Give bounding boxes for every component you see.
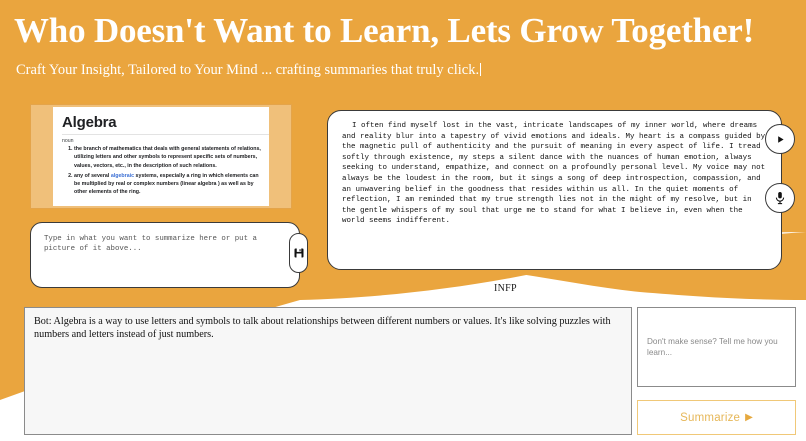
summarize-input-panel[interactable]: Type in what you want to summarize here … [30, 222, 300, 288]
bot-output-box[interactable]: Bot: Algebra is a way to use letters and… [24, 307, 632, 435]
dictionary-screenshot: Algebra noun the branch of mathematics t… [53, 107, 269, 206]
uploaded-image-card[interactable]: Algebra noun the branch of mathematics t… [30, 104, 292, 209]
microphone-icon [774, 191, 786, 205]
dictionary-definition-list: the branch of mathematics that deals wit… [53, 145, 269, 197]
bot-output-text: Bot: Algebra is a way to use letters and… [34, 315, 622, 341]
microphone-button[interactable] [765, 183, 795, 213]
persona-text-panel[interactable]: I often find myself lost in the vast, in… [327, 110, 782, 270]
persona-text: I often find myself lost in the vast, in… [342, 121, 767, 227]
dictionary-definition-2: any of several algebraic systems, especi… [74, 172, 263, 197]
feedback-input[interactable]: Don't make sense? Tell me how you learn.… [637, 307, 796, 387]
dictionary-part-of-speech: noun [62, 134, 269, 144]
summarize-input-placeholder: Type in what you want to summarize here … [44, 234, 286, 254]
dictionary-definition-1: the branch of mathematics that deals wit… [74, 145, 263, 170]
dictionary-word: Algebra [62, 114, 269, 131]
save-icon [294, 248, 304, 258]
summarize-button[interactable]: Summarize ▶ [637, 400, 796, 435]
definition-2-prefix: any of several [74, 173, 111, 179]
feedback-input-placeholder: Don't make sense? Tell me how you learn.… [647, 336, 786, 358]
play-arrow-icon: ▶ [745, 413, 753, 423]
definition-2-link[interactable]: algebraic [111, 173, 134, 179]
app-root: Who Doesn't Want to Learn, Lets Grow Tog… [0, 0, 806, 441]
personality-type-label: INFP [494, 283, 517, 294]
save-button[interactable] [289, 233, 308, 273]
play-button[interactable] [765, 124, 795, 154]
play-icon [775, 134, 786, 145]
summarize-button-label: Summarize [680, 412, 740, 424]
